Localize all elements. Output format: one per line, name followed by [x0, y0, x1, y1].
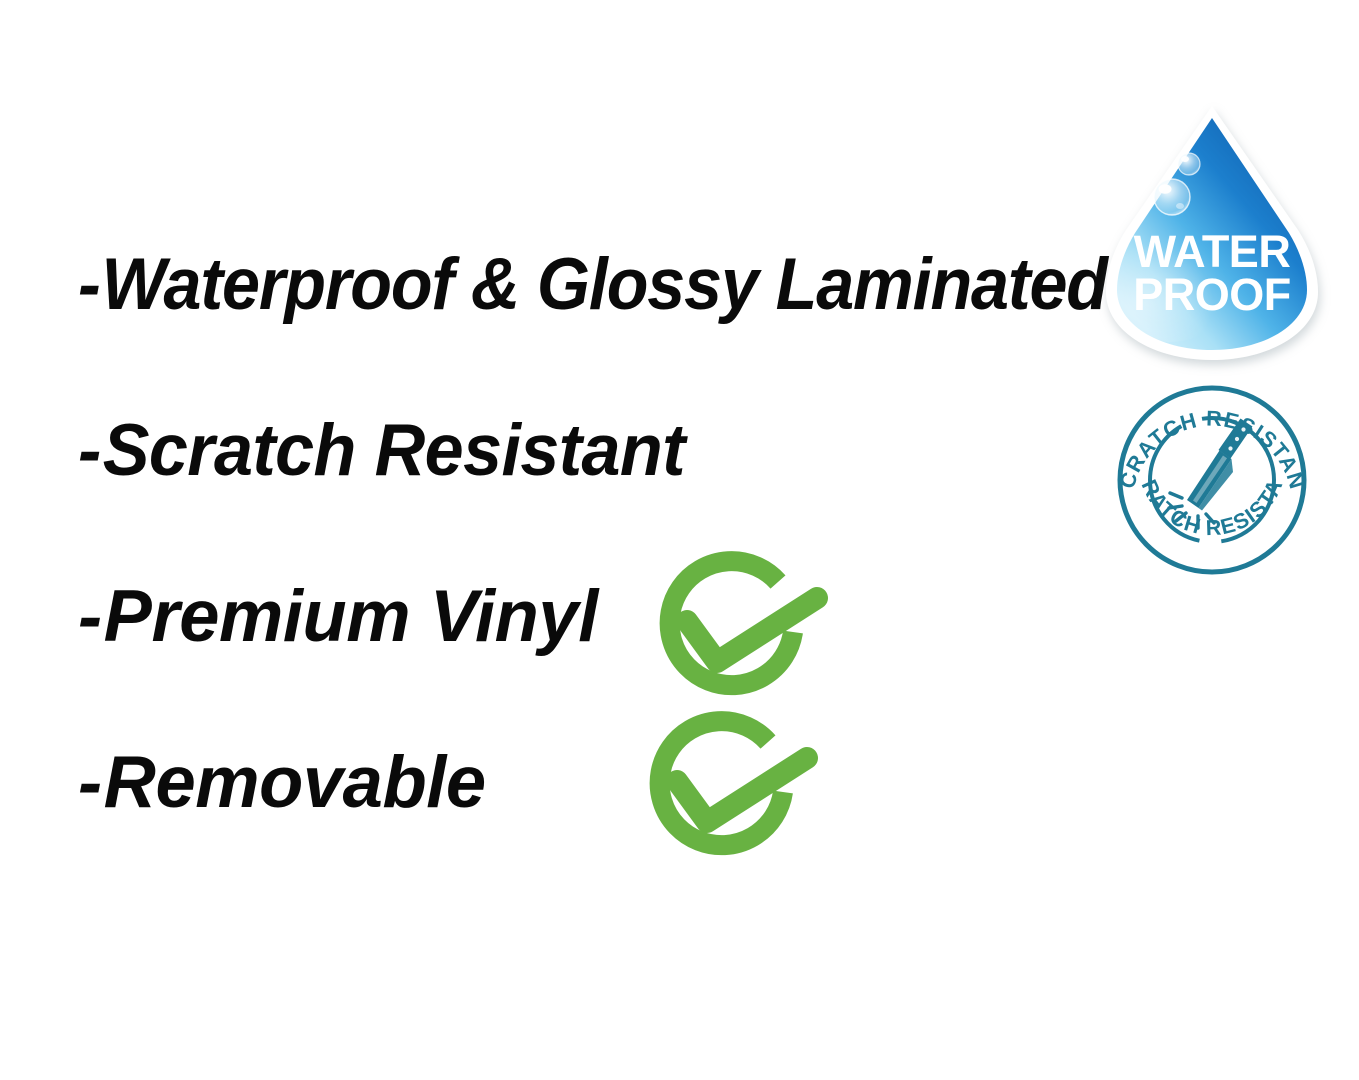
bubble-large-icon [1154, 179, 1190, 215]
check-mark-stroke [677, 758, 807, 822]
bubble-small-icon [1178, 153, 1200, 175]
check-mark-stroke [687, 598, 817, 662]
check-circle-icon-1 [638, 554, 838, 719]
feature-list-item: -Waterproof & Glossy Laminated [78, 248, 1032, 321]
bullet-dash: - [78, 414, 101, 487]
feature-list-item: -Scratch Resistant [78, 414, 1057, 487]
feature-highlight-graphic: -Waterproof & Glossy Laminated -Scratch … [0, 0, 1359, 1080]
feature-list-item: -Premium Vinyl [78, 580, 1088, 653]
bullet-dash: - [78, 580, 102, 653]
scratch-resistant-badge: SCRATCH RESISTANT SCRATCH RESISTANT [1112, 382, 1312, 578]
feature-label: Premium Vinyl [104, 576, 598, 657]
bullet-dash: - [78, 248, 100, 321]
feature-list: -Waterproof & Glossy Laminated -Scratch … [78, 248, 1098, 819]
feature-label: Waterproof & Glossy Laminated [101, 244, 1106, 325]
bullet-dash: - [78, 746, 102, 819]
feature-label: Removable [104, 742, 486, 823]
waterproof-badge: WATER PROOF [1098, 102, 1326, 364]
waterproof-line2: PROOF [1133, 269, 1291, 320]
check-circle-icon-2 [628, 714, 828, 879]
knife-icon [1187, 419, 1253, 511]
feature-label: Scratch Resistant [103, 410, 685, 491]
feature-list-item: -Removable [78, 746, 1088, 819]
